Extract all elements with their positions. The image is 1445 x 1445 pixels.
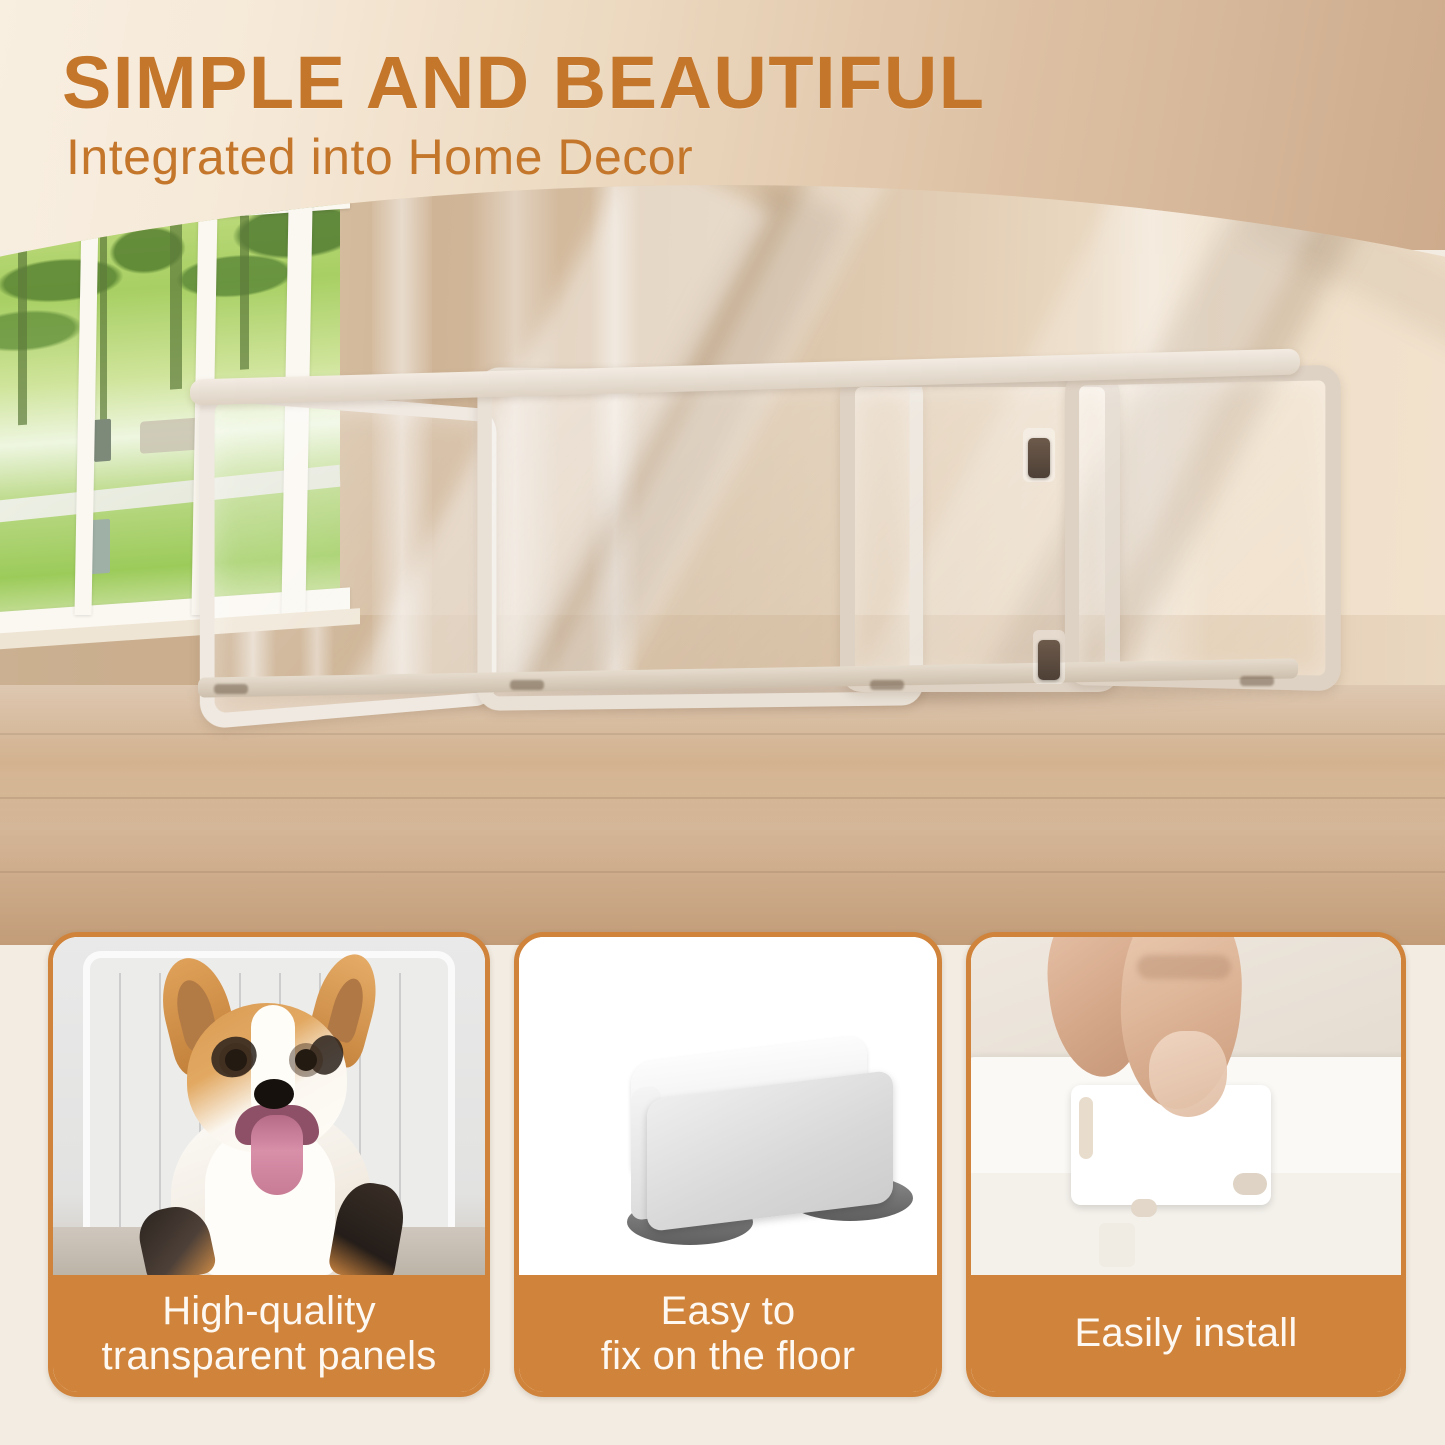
- corgi-behind-transparent-gate-photo: [53, 937, 485, 1275]
- card-caption: Easy to fix on the floor: [519, 1275, 937, 1392]
- card-caption-line: High-quality: [102, 1289, 437, 1334]
- knuckle-crease: [1137, 955, 1231, 979]
- feature-card-transparent-panels[interactable]: High-quality transparent panels: [48, 932, 490, 1397]
- clip-notch: [1099, 1223, 1135, 1267]
- hand-installing-clip-photo: [971, 937, 1401, 1275]
- dog-tongue: [251, 1115, 303, 1195]
- corgi-dog: [119, 975, 419, 1275]
- clip-hole: [1233, 1173, 1267, 1195]
- product-infographic: SIMPLE AND BEAUTIFUL Integrated into Hom…: [0, 0, 1445, 1445]
- feature-card-row: High-quality transparent panels Easy to …: [0, 0, 1445, 1445]
- card-caption: Easily install: [971, 1275, 1401, 1392]
- dog-eye: [295, 1049, 317, 1071]
- dog-nose: [254, 1079, 294, 1109]
- card-caption-line: Easy to: [601, 1289, 855, 1334]
- dog-eye: [225, 1049, 247, 1071]
- clip-hole: [1131, 1199, 1157, 1217]
- card-caption-line: transparent panels: [102, 1334, 437, 1379]
- feature-card-floor-fix[interactable]: Easy to fix on the floor: [514, 932, 942, 1397]
- thumbnail: [1149, 1031, 1227, 1117]
- card-caption-line: Easily install: [1075, 1311, 1298, 1356]
- clip-slot: [1079, 1097, 1093, 1159]
- feature-card-easy-install[interactable]: Easily install: [966, 932, 1406, 1397]
- card-caption-line: fix on the floor: [601, 1334, 855, 1379]
- card-caption: High-quality transparent panels: [53, 1275, 485, 1392]
- floor-mount-bracket-photo: [519, 937, 937, 1275]
